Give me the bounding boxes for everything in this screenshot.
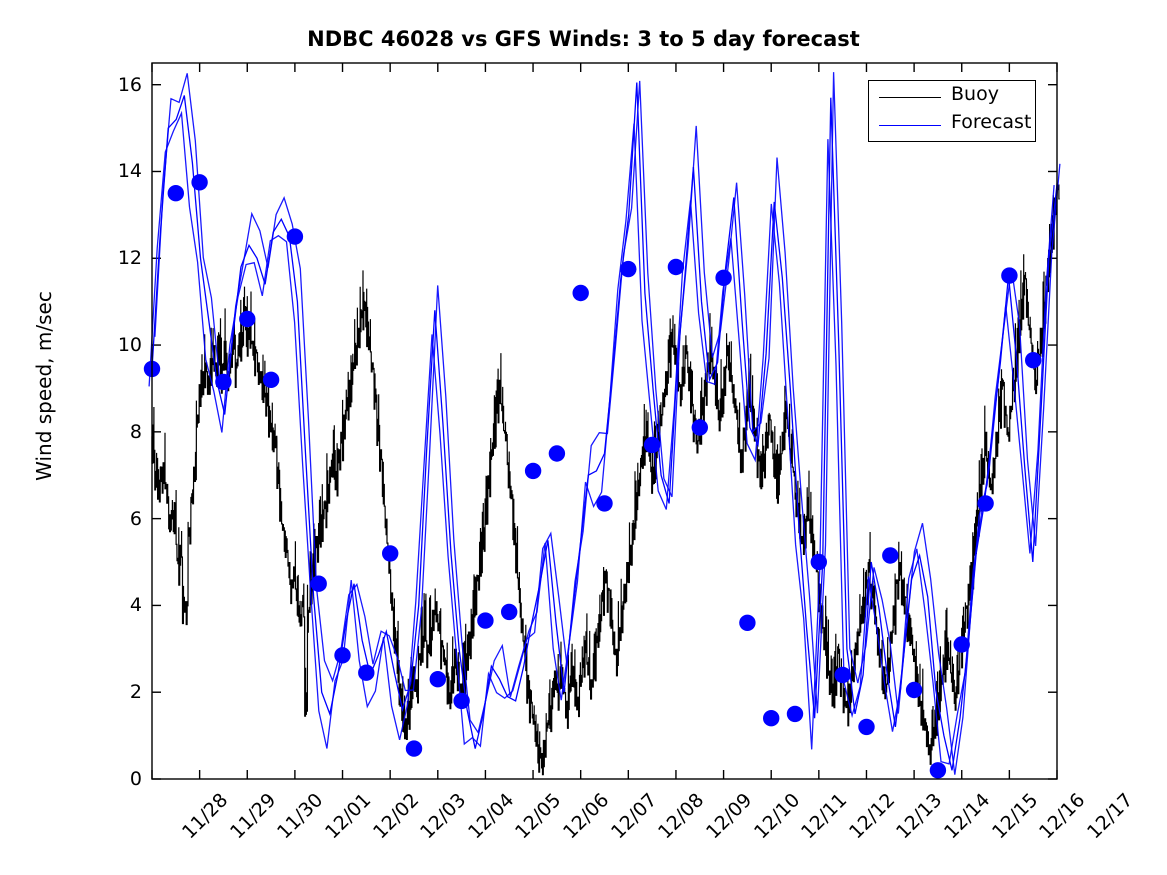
legend: Buoy Forecast bbox=[868, 80, 1036, 142]
forecast-marker bbox=[1001, 267, 1017, 283]
legend-line-forecast bbox=[879, 125, 941, 126]
legend-label-buoy: Buoy bbox=[951, 83, 999, 105]
forecast-polyline bbox=[152, 83, 1057, 771]
forecast-marker bbox=[406, 740, 422, 756]
forecast-marker bbox=[168, 185, 184, 201]
forecast-marker bbox=[644, 437, 660, 453]
forecast-marker bbox=[668, 259, 684, 275]
forecast-marker bbox=[858, 719, 874, 735]
forecast-marker bbox=[906, 682, 922, 698]
buoy-polyline bbox=[152, 183, 1060, 775]
forecast-marker bbox=[382, 545, 398, 561]
forecast-marker bbox=[930, 762, 946, 778]
forecast-marker bbox=[596, 495, 612, 511]
forecast-marker bbox=[787, 706, 803, 722]
forecast-marker bbox=[358, 665, 374, 681]
forecast-marker bbox=[739, 615, 755, 631]
forecast-marker bbox=[715, 270, 731, 286]
forecast-marker bbox=[477, 612, 493, 628]
buoy-series bbox=[152, 183, 1060, 775]
forecast-marker bbox=[954, 636, 970, 652]
forecast-marker bbox=[882, 547, 898, 563]
forecast-marker bbox=[311, 576, 327, 592]
forecast-marker bbox=[334, 647, 350, 663]
legend-entry-buoy: Buoy bbox=[869, 85, 1037, 111]
forecast-marker bbox=[453, 693, 469, 709]
forecast-marker bbox=[191, 174, 207, 190]
plot-box bbox=[152, 63, 1057, 779]
forecast-marker bbox=[573, 285, 589, 301]
forecast-marker bbox=[215, 374, 231, 390]
forecast-marker bbox=[430, 671, 446, 687]
forecast-marker bbox=[763, 710, 779, 726]
forecast-marker bbox=[239, 311, 255, 327]
legend-label-forecast: Forecast bbox=[951, 111, 1031, 133]
forecast-marker bbox=[263, 372, 279, 388]
forecast-marker bbox=[525, 463, 541, 479]
axis-ticks bbox=[152, 63, 1057, 779]
forecast-marker bbox=[501, 604, 517, 620]
forecast-marker bbox=[620, 261, 636, 277]
forecast-marker bbox=[977, 495, 993, 511]
legend-line-buoy bbox=[879, 97, 941, 98]
legend-entry-forecast: Forecast bbox=[869, 113, 1037, 139]
forecast-marker bbox=[1025, 352, 1041, 368]
forecast-polyline bbox=[149, 113, 1054, 764]
forecast-marker bbox=[549, 445, 565, 461]
forecast-marker bbox=[835, 667, 851, 683]
forecast-marker bbox=[287, 228, 303, 244]
figure: NDBC 46028 vs GFS Winds: 3 to 5 day fore… bbox=[0, 0, 1167, 875]
forecast-marker bbox=[692, 419, 708, 435]
forecast-marker bbox=[811, 554, 827, 570]
